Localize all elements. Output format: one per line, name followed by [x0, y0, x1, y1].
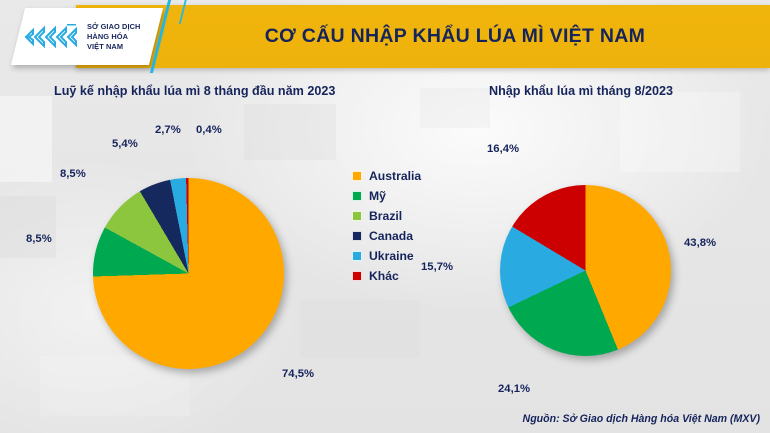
- legend-swatch-icon: [352, 211, 362, 221]
- legend-item-label: Canada: [369, 229, 413, 243]
- pie-slice-label: 2,7%: [155, 124, 181, 136]
- pie-slice-label: 16,4%: [487, 143, 519, 155]
- pie-slice-label: 0,4%: [196, 124, 222, 136]
- legend-item-4[interactable]: Ukraine: [352, 248, 421, 263]
- logo-text: SỞ GIAO DỊCH HÀNG HÓA VIỆT NAM: [87, 22, 141, 52]
- pie-slice-label: 8,5%: [26, 233, 52, 245]
- logo-line-1: SỞ GIAO DỊCH: [87, 22, 141, 32]
- chart-subtitle-right: Nhập khẩu lúa mì tháng 8/2023: [489, 84, 673, 98]
- pie-chart-august: [500, 185, 671, 356]
- logo-line-3: VIỆT NAM: [87, 42, 141, 52]
- background-watermark: [0, 196, 56, 258]
- pie-slice-label: 74,5%: [282, 368, 314, 380]
- pie-slice-label: 5,4%: [112, 138, 138, 150]
- page-title: CƠ CẤU NHẬP KHẨU LÚA MÌ VIỆT NAM: [140, 5, 770, 68]
- pie-chart-cumulative: [93, 178, 284, 369]
- background-watermark: [244, 104, 336, 160]
- legend-item-2[interactable]: Brazil: [352, 208, 421, 223]
- legend-swatch-icon: [352, 251, 362, 261]
- pie-slice-label: 24,1%: [498, 383, 530, 395]
- background-watermark: [620, 92, 740, 172]
- background-watermark: [420, 88, 490, 128]
- background-watermark: [0, 96, 52, 182]
- legend-item-label: Khác: [369, 269, 399, 283]
- pie-slice-label: 8,5%: [60, 168, 86, 180]
- legend-item-5[interactable]: Khác: [352, 268, 421, 283]
- legend-item-label: Ukraine: [369, 249, 414, 263]
- source-note: Nguồn: Sở Giao dịch Hàng hóa Việt Nam (M…: [523, 413, 760, 425]
- logo: SỞ GIAO DỊCH HÀNG HÓA VIỆT NAM: [24, 14, 154, 60]
- background-watermark: [300, 300, 420, 358]
- legend-swatch-icon: [352, 191, 362, 201]
- legend-item-label: Brazil: [369, 209, 402, 223]
- pie-slice-label: 43,8%: [684, 237, 716, 249]
- logo-line-2: HÀNG HÓA: [87, 32, 141, 42]
- legend-item-0[interactable]: Australia: [352, 168, 421, 183]
- legend-item-label: Mỹ: [369, 189, 386, 203]
- legend-swatch-icon: [352, 231, 362, 241]
- legend-item-3[interactable]: Canada: [352, 228, 421, 243]
- legend-swatch-icon: [352, 171, 362, 181]
- chart-subtitle-left: Luỹ kế nhập khẩu lúa mì 8 tháng đầu năm …: [54, 84, 335, 98]
- legend-swatch-icon: [352, 271, 362, 281]
- legend-item-1[interactable]: Mỹ: [352, 188, 421, 203]
- pie-slice-label: 15,7%: [421, 261, 453, 273]
- mxv-logo-icon: [24, 22, 82, 52]
- legend: AustraliaMỹBrazilCanadaUkraineKhác: [352, 168, 421, 283]
- legend-item-label: Australia: [369, 169, 421, 183]
- infographic-canvas: CƠ CẤU NHẬP KHẨU LÚA MÌ VIỆT NAM SỞ GIAO…: [0, 0, 770, 433]
